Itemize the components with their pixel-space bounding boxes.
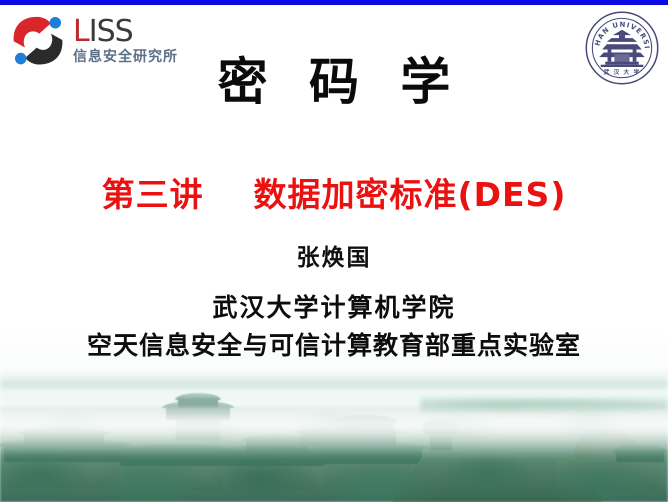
- liss-wordmark-iss: ISS: [89, 14, 133, 49]
- author-name: 张焕国: [0, 238, 668, 272]
- liss-wordmark-l: L: [73, 14, 89, 49]
- mist-layer: [0, 400, 668, 452]
- presentation-slide: LISS 信息安全研究所 WUHAN UNIVERSITY 武 汉 大 学: [0, 0, 668, 502]
- liss-wordmark-text: LISS: [73, 17, 178, 47]
- affiliation-line-2: 空天信息安全与可信计算教育部重点实验室: [0, 326, 668, 362]
- slide-subtitle: 第三讲 数据加密标准(DES): [0, 175, 668, 215]
- slide-main-title: 密 码 学: [0, 52, 668, 112]
- top-accent-bar: [0, 0, 668, 5]
- affiliation-line-1: 武汉大学计算机学院: [0, 288, 668, 324]
